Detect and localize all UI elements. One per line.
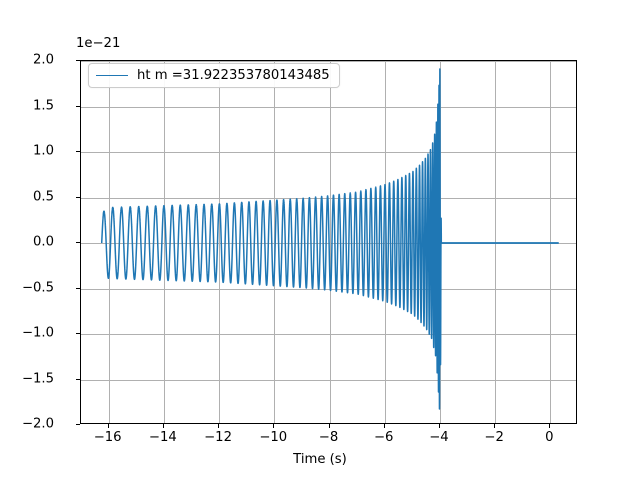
x-tick-mark: [494, 424, 495, 428]
x-axis-label: Time (s): [0, 452, 640, 467]
y-tick-label: −1.0: [22, 326, 54, 341]
plot-area: [80, 60, 577, 424]
x-tick-mark: [384, 424, 385, 428]
x-tick-mark: [549, 424, 550, 428]
y-tick-label: 0.5: [33, 189, 54, 204]
x-tick-mark: [108, 424, 109, 428]
x-tick-mark: [218, 424, 219, 428]
y-tick-label: 0.0: [33, 235, 54, 250]
y-tick-label: −1.5: [22, 371, 54, 386]
x-tick-mark: [163, 424, 164, 428]
x-tick-label: −10: [259, 430, 287, 445]
y-tick-mark: [76, 151, 80, 152]
y-tick-label: −0.5: [22, 280, 54, 295]
waveform-series: [81, 61, 577, 424]
matplotlib-figure: 1e−21 −2.0−1.5−1.0−0.50.00.51.01.52.0−16…: [0, 0, 640, 480]
y-tick-mark: [76, 333, 80, 334]
y-tick-label: 2.0: [33, 53, 54, 68]
x-tick-label: −2: [484, 430, 503, 445]
x-tick-label: −4: [429, 430, 448, 445]
x-tick-label: −8: [319, 430, 338, 445]
legend-color-swatch: [96, 75, 128, 76]
legend-entry-label: ht m =31.922353780143485: [137, 68, 330, 83]
legend: ht m =31.922353780143485: [88, 63, 340, 88]
x-tick-label: 0: [545, 430, 553, 445]
x-tick-mark: [439, 424, 440, 428]
y-tick-label: 1.5: [33, 98, 54, 113]
y-tick-mark: [76, 424, 80, 425]
y-axis-offset-text: 1e−21: [76, 36, 120, 51]
x-tick-mark: [273, 424, 274, 428]
y-tick-mark: [76, 60, 80, 61]
x-tick-label: −12: [204, 430, 232, 445]
waveform-path: [102, 69, 559, 409]
y-tick-mark: [76, 106, 80, 107]
y-tick-label: 1.0: [33, 144, 54, 159]
x-tick-label: −14: [149, 430, 177, 445]
x-tick-label: −16: [94, 430, 122, 445]
x-tick-label: −6: [374, 430, 393, 445]
y-tick-mark: [76, 379, 80, 380]
y-tick-mark: [76, 288, 80, 289]
y-tick-mark: [76, 242, 80, 243]
y-tick-label: −2.0: [22, 417, 54, 432]
x-tick-mark: [329, 424, 330, 428]
y-tick-mark: [76, 197, 80, 198]
